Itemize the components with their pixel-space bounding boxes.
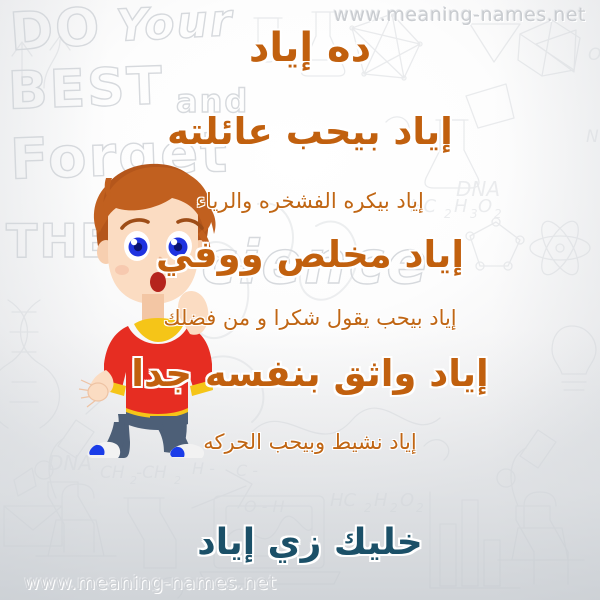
trait-line-6: إياد نشيط وبيحب الحركه: [20, 431, 600, 453]
trait-line-2: إياد بيكره الفشخره والرياء: [20, 190, 600, 212]
watermark-top: www.meaning-names.net: [333, 4, 586, 26]
trait-line-5: إياد واثق بنفسه جدا: [20, 355, 600, 394]
trait-line-4: إياد بيحب يقول شكرا و من فضلك: [20, 307, 600, 329]
watermark-bottom: www.meaning-names.net: [24, 572, 277, 594]
name-meaning-poster: HC2 H3 O2 HC2 H2 O2 DNA CH 2 -CH 2 H - D…: [0, 0, 600, 600]
trait-line-1: إياد بيحب عائلته: [20, 113, 600, 152]
page-title: ده إياد: [20, 27, 600, 69]
footer-slogan: خليك زي إياد: [20, 524, 600, 562]
trait-line-3: إياد مخلص ووفي: [20, 236, 600, 275]
